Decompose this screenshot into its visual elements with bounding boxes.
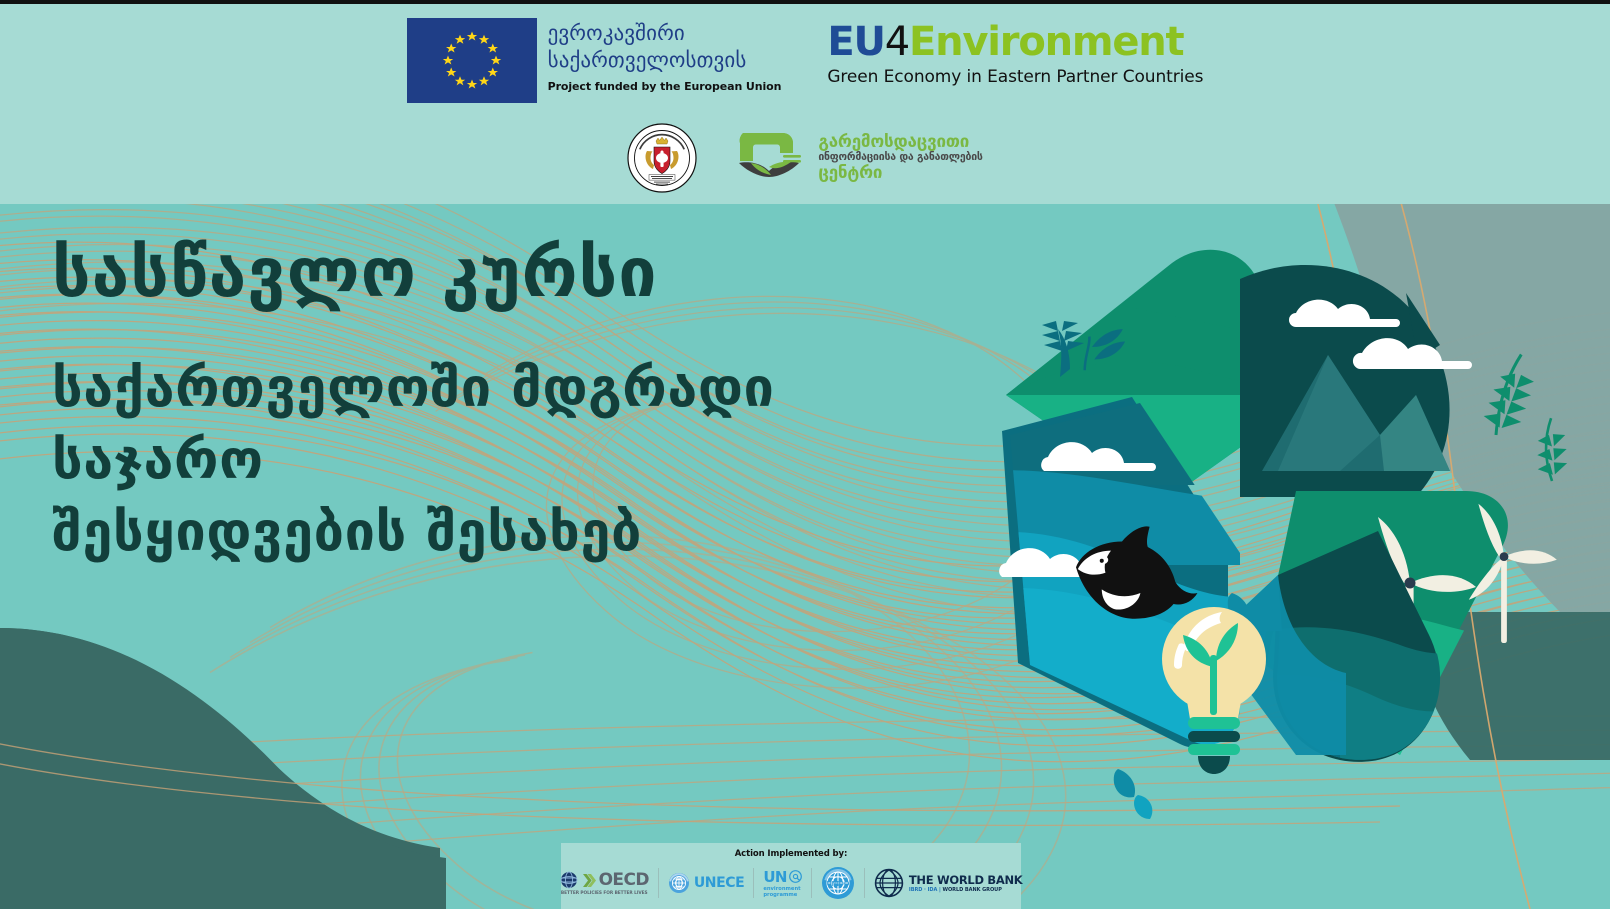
header-logo-row-primary: ევროკავშირი საქართველოსთვის Project fund… bbox=[0, 0, 1610, 110]
eu4env-eu: EU bbox=[827, 19, 884, 65]
oecd-wordmark: OECD bbox=[599, 870, 649, 890]
unep-logo: UN environment programme bbox=[754, 864, 811, 902]
oecd-logo: OECD BETTER POLICIES FOR BETTER LIVES bbox=[551, 864, 658, 902]
un-emblem-icon bbox=[668, 872, 690, 894]
unido-emblem-icon: UNIDO bbox=[821, 866, 855, 900]
eu4env-four: 4 bbox=[885, 19, 909, 65]
world-bank-group: WORLD BANK GROUP bbox=[943, 887, 1002, 893]
unep-sub-line2: programme bbox=[763, 892, 797, 898]
georgia-coat-of-arms-icon bbox=[627, 123, 697, 193]
footer-logo-strip: OECD BETTER POLICIES FOR BETTER LIVES bbox=[551, 863, 1032, 903]
footer-implementers-panel: Action Implemented by: bbox=[561, 843, 1021, 909]
world-bank-ibrd: IBRD · IDA bbox=[909, 887, 937, 893]
top-rule bbox=[0, 0, 1610, 4]
eiec-line3: ცენტრი bbox=[818, 164, 982, 183]
eu-logo-line2: საქართველოსთვის bbox=[548, 47, 782, 74]
world-bank-globe-icon bbox=[874, 868, 904, 898]
recycling-arrows-environment-illustration bbox=[910, 235, 1590, 835]
oecd-globe-icon bbox=[560, 870, 580, 890]
footer-caption: Action Implemented by: bbox=[735, 849, 848, 859]
headline-subtitle-line1: საქართველოში მდგრადი საჯარო bbox=[52, 352, 952, 496]
poster-banner: ევროკავშირი საქართველოსთვის Project fund… bbox=[0, 0, 1610, 909]
unep-wordmark: UN bbox=[763, 868, 787, 886]
eu-logo-text: ევროკავშირი საქართველოსთვის Project fund… bbox=[548, 18, 782, 93]
eu-funding-logo: ევროკავშირი საქართველოსთვის Project fund… bbox=[407, 0, 782, 103]
world-bank-sub: IBRD · IDA | WORLD BANK GROUP bbox=[909, 887, 1023, 893]
headline-subtitle-line2: შესყიდვების შესახებ bbox=[52, 496, 952, 568]
headline-block: სასწავლო კურსი საქართველოში მდგრადი საჯა… bbox=[52, 240, 952, 567]
headline-subtitle: საქართველოში მდგრადი საჯარო შესყიდვების … bbox=[52, 352, 952, 567]
world-bank-logo: THE WORLD BANK IBRD · IDA | WORLD BANK G… bbox=[865, 864, 1032, 902]
unido-logo: UNIDO bbox=[812, 864, 864, 902]
eiec-logo: გარემოსდაცვითი ინფორმაციისა და განათლები… bbox=[735, 127, 982, 189]
fern-leaves bbox=[1480, 350, 1572, 484]
svg-text:UNIDO: UNIDO bbox=[827, 881, 850, 888]
eu-funded-note: Project funded by the European Union bbox=[548, 80, 782, 93]
unece-logo: UNECE bbox=[659, 864, 754, 902]
eu4environment-logo: EU4Environment Green Economy in Eastern … bbox=[827, 0, 1203, 87]
eu-logo-line1: ევროკავშირი bbox=[548, 20, 782, 47]
eiec-logo-text: გარემოსდაცვითი ინფორმაციისა და განათლები… bbox=[818, 133, 982, 183]
european-union-flag-icon bbox=[407, 18, 537, 103]
world-bank-wordmark: THE WORLD BANK bbox=[909, 873, 1023, 887]
headline-kicker: სასწავლო კურსი bbox=[52, 240, 952, 308]
eu4environment-wordmark: EU4Environment bbox=[827, 22, 1203, 62]
eiec-line1: გარემოსდაცვითი bbox=[818, 133, 982, 152]
unece-wordmark: UNECE bbox=[694, 875, 745, 891]
eu4env-environment: Environment bbox=[909, 19, 1183, 65]
water-droplets bbox=[1114, 769, 1153, 819]
unep-at-icon bbox=[789, 870, 802, 883]
eu4environment-tagline: Green Economy in Eastern Partner Countri… bbox=[827, 67, 1203, 87]
eiec-book-leaf-icon bbox=[735, 127, 809, 189]
oecd-tagline: BETTER POLICIES FOR BETTER LIVES bbox=[561, 891, 648, 896]
header-logo-row-secondary: გარემოსდაცვითი ინფორმაციისა და განათლები… bbox=[0, 118, 1610, 198]
oecd-chevrons-icon bbox=[583, 872, 596, 889]
light-bulb-with-sprout bbox=[1162, 607, 1266, 774]
